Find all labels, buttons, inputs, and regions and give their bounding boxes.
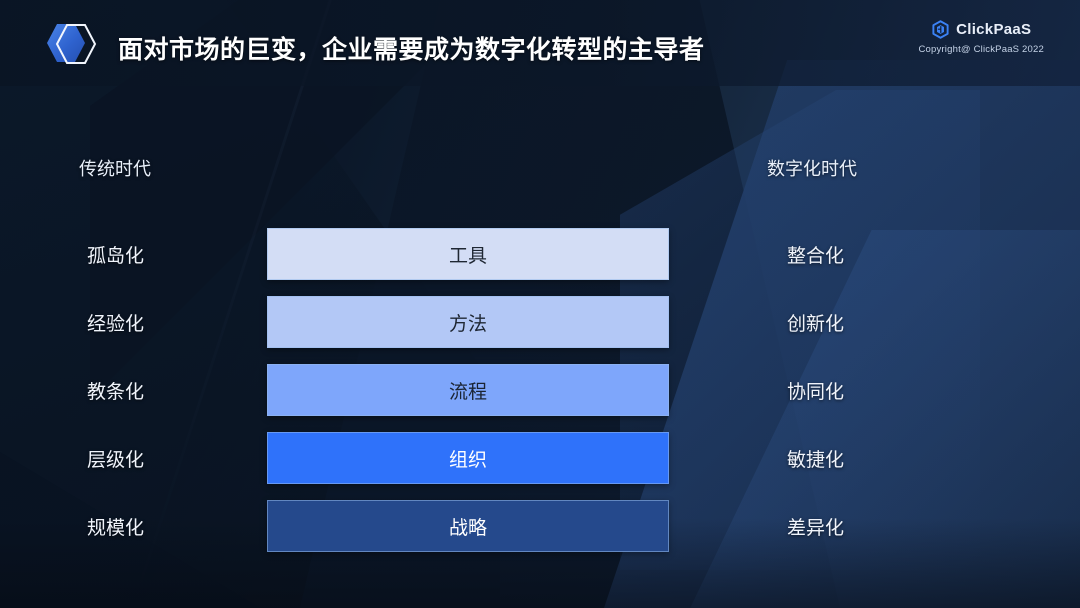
comparison-rows: 孤岛化工具整合化经验化方法创新化教条化流程协同化层级化组织敏捷化规模化战略差异化	[0, 228, 1080, 552]
layer-bar[interactable]: 方法	[267, 296, 669, 348]
layer-bar[interactable]: 流程	[267, 364, 669, 416]
traditional-label: 经验化	[87, 296, 144, 348]
slide-root: 面对市场的巨变，企业需要成为数字化转型的主导者 ClickPaaS Copyri…	[0, 0, 1080, 608]
brand-block: ClickPaaS Copyright@ ClickPaaS 2022	[918, 20, 1044, 55]
comparison-row: 规模化战略差异化	[0, 500, 1080, 552]
traditional-label: 孤岛化	[87, 228, 144, 280]
clickpaas-mark-icon	[931, 20, 950, 39]
digital-label: 整合化	[787, 228, 844, 280]
column-header-digital: 数字化时代	[767, 155, 857, 181]
copyright-text: Copyright@ ClickPaaS 2022	[918, 44, 1044, 55]
layer-bar[interactable]: 工具	[267, 228, 669, 280]
digital-label: 协同化	[787, 364, 844, 416]
comparison-row: 孤岛化工具整合化	[0, 228, 1080, 280]
digital-label: 创新化	[787, 296, 844, 348]
brand-name: ClickPaaS	[956, 21, 1031, 38]
hexagon-logo-icon	[41, 20, 103, 68]
comparison-row: 经验化方法创新化	[0, 296, 1080, 348]
comparison-row: 教条化流程协同化	[0, 364, 1080, 416]
column-header-traditional: 传统时代	[79, 155, 151, 181]
slide-header: 面对市场的巨变，企业需要成为数字化转型的主导者 ClickPaaS Copyri…	[0, 0, 1080, 86]
traditional-label: 层级化	[87, 432, 144, 484]
layer-bar[interactable]: 组织	[267, 432, 669, 484]
comparison-row: 层级化组织敏捷化	[0, 432, 1080, 484]
digital-label: 差异化	[787, 500, 844, 552]
slide-body: 传统时代 数字化时代 孤岛化工具整合化经验化方法创新化教条化流程协同化层级化组织…	[0, 0, 1080, 608]
digital-label: 敏捷化	[787, 432, 844, 484]
traditional-label: 教条化	[87, 364, 144, 416]
traditional-label: 规模化	[87, 500, 144, 552]
page-title: 面对市场的巨变，企业需要成为数字化转型的主导者	[118, 30, 705, 66]
layer-bar[interactable]: 战略	[267, 500, 669, 552]
